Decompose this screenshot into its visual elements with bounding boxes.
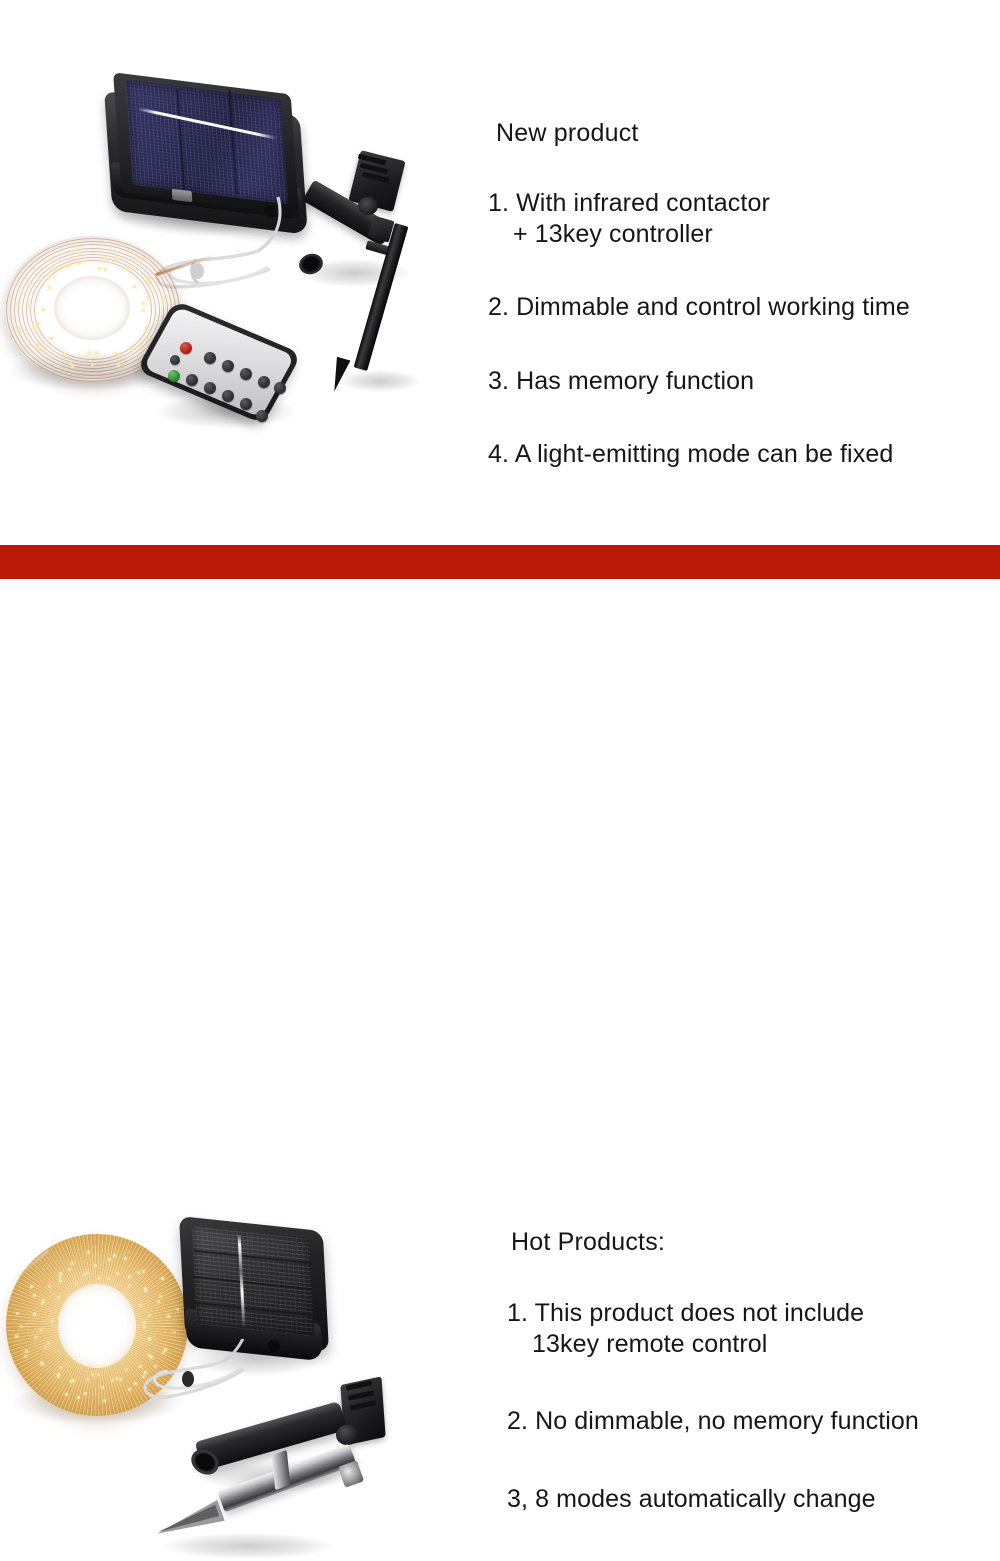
remote-key: [240, 398, 252, 410]
hot-products-item-1: 1. This product does not include 13key r…: [507, 1298, 1000, 1360]
remote-key: [186, 374, 198, 386]
remote-key: [222, 390, 234, 402]
hot-products-item-3: 3, 8 modes automatically change: [507, 1484, 1000, 1515]
hot-products-section: Hot Products: 1. This product does not i…: [0, 579, 1000, 1000]
remote-key-power: [180, 342, 192, 354]
new-product-item-2-line1: 2. Dimmable and control working time: [488, 293, 910, 321]
hot-products-item-2-line1: 2. No dimmable, no memory function: [507, 1407, 919, 1435]
remote-key: [240, 368, 252, 380]
red-divider-bar: [0, 545, 1000, 579]
remote-key-plus: [274, 382, 286, 394]
new-product-item-1-line2: + 13key controller: [488, 219, 1000, 250]
new-product-heading: New product: [496, 118, 1000, 148]
new-product-item-3-line1: 3. Has memory function: [488, 367, 754, 395]
hot-products-item-1-line1: 1. This product does not include: [507, 1299, 864, 1327]
remote-key: [204, 382, 216, 394]
hot-products-heading: Hot Products:: [511, 1227, 1000, 1257]
remote-key: [222, 360, 234, 372]
remote-key-mode: [168, 370, 180, 382]
new-product-item-1: 1. With infrared contactor + 13key contr…: [488, 188, 1000, 250]
new-product-item-3: 3. Has memory function: [488, 366, 1000, 397]
remote-key: [258, 376, 270, 388]
remote-key: [170, 355, 180, 365]
hot-products-item-2: 2. No dimmable, no memory function: [507, 1406, 1000, 1437]
new-product-item-2: 2. Dimmable and control working time: [488, 292, 1000, 323]
black-ground-stake: [330, 218, 460, 393]
new-product-item-4-line1: 4. A light-emitting mode can be fixed: [488, 440, 893, 468]
new-product-item-4: 4. A light-emitting mode can be fixed: [488, 439, 1000, 470]
13key-remote-control: [150, 322, 310, 442]
hot-products-item-1-line2: 13key remote control: [507, 1329, 1000, 1360]
hot-products-item-3-line1: 3, 8 modes automatically change: [507, 1485, 876, 1513]
remote-key: [204, 352, 216, 364]
new-product-section: New product 1. With infrared contactor +…: [0, 0, 1000, 545]
product-info-graphic: New product 1. With infrared contactor +…: [0, 0, 1000, 1000]
new-product-item-1-line1: 1. With infrared contactor: [488, 189, 770, 217]
new-product-text-block: New product 1. With infrared contactor +…: [488, 118, 1000, 470]
hot-products-text-block: Hot Products: 1. This product does not i…: [507, 1227, 1000, 1515]
remote-key-minus: [256, 410, 268, 422]
chrome-ground-stake: [155, 1441, 375, 1561]
